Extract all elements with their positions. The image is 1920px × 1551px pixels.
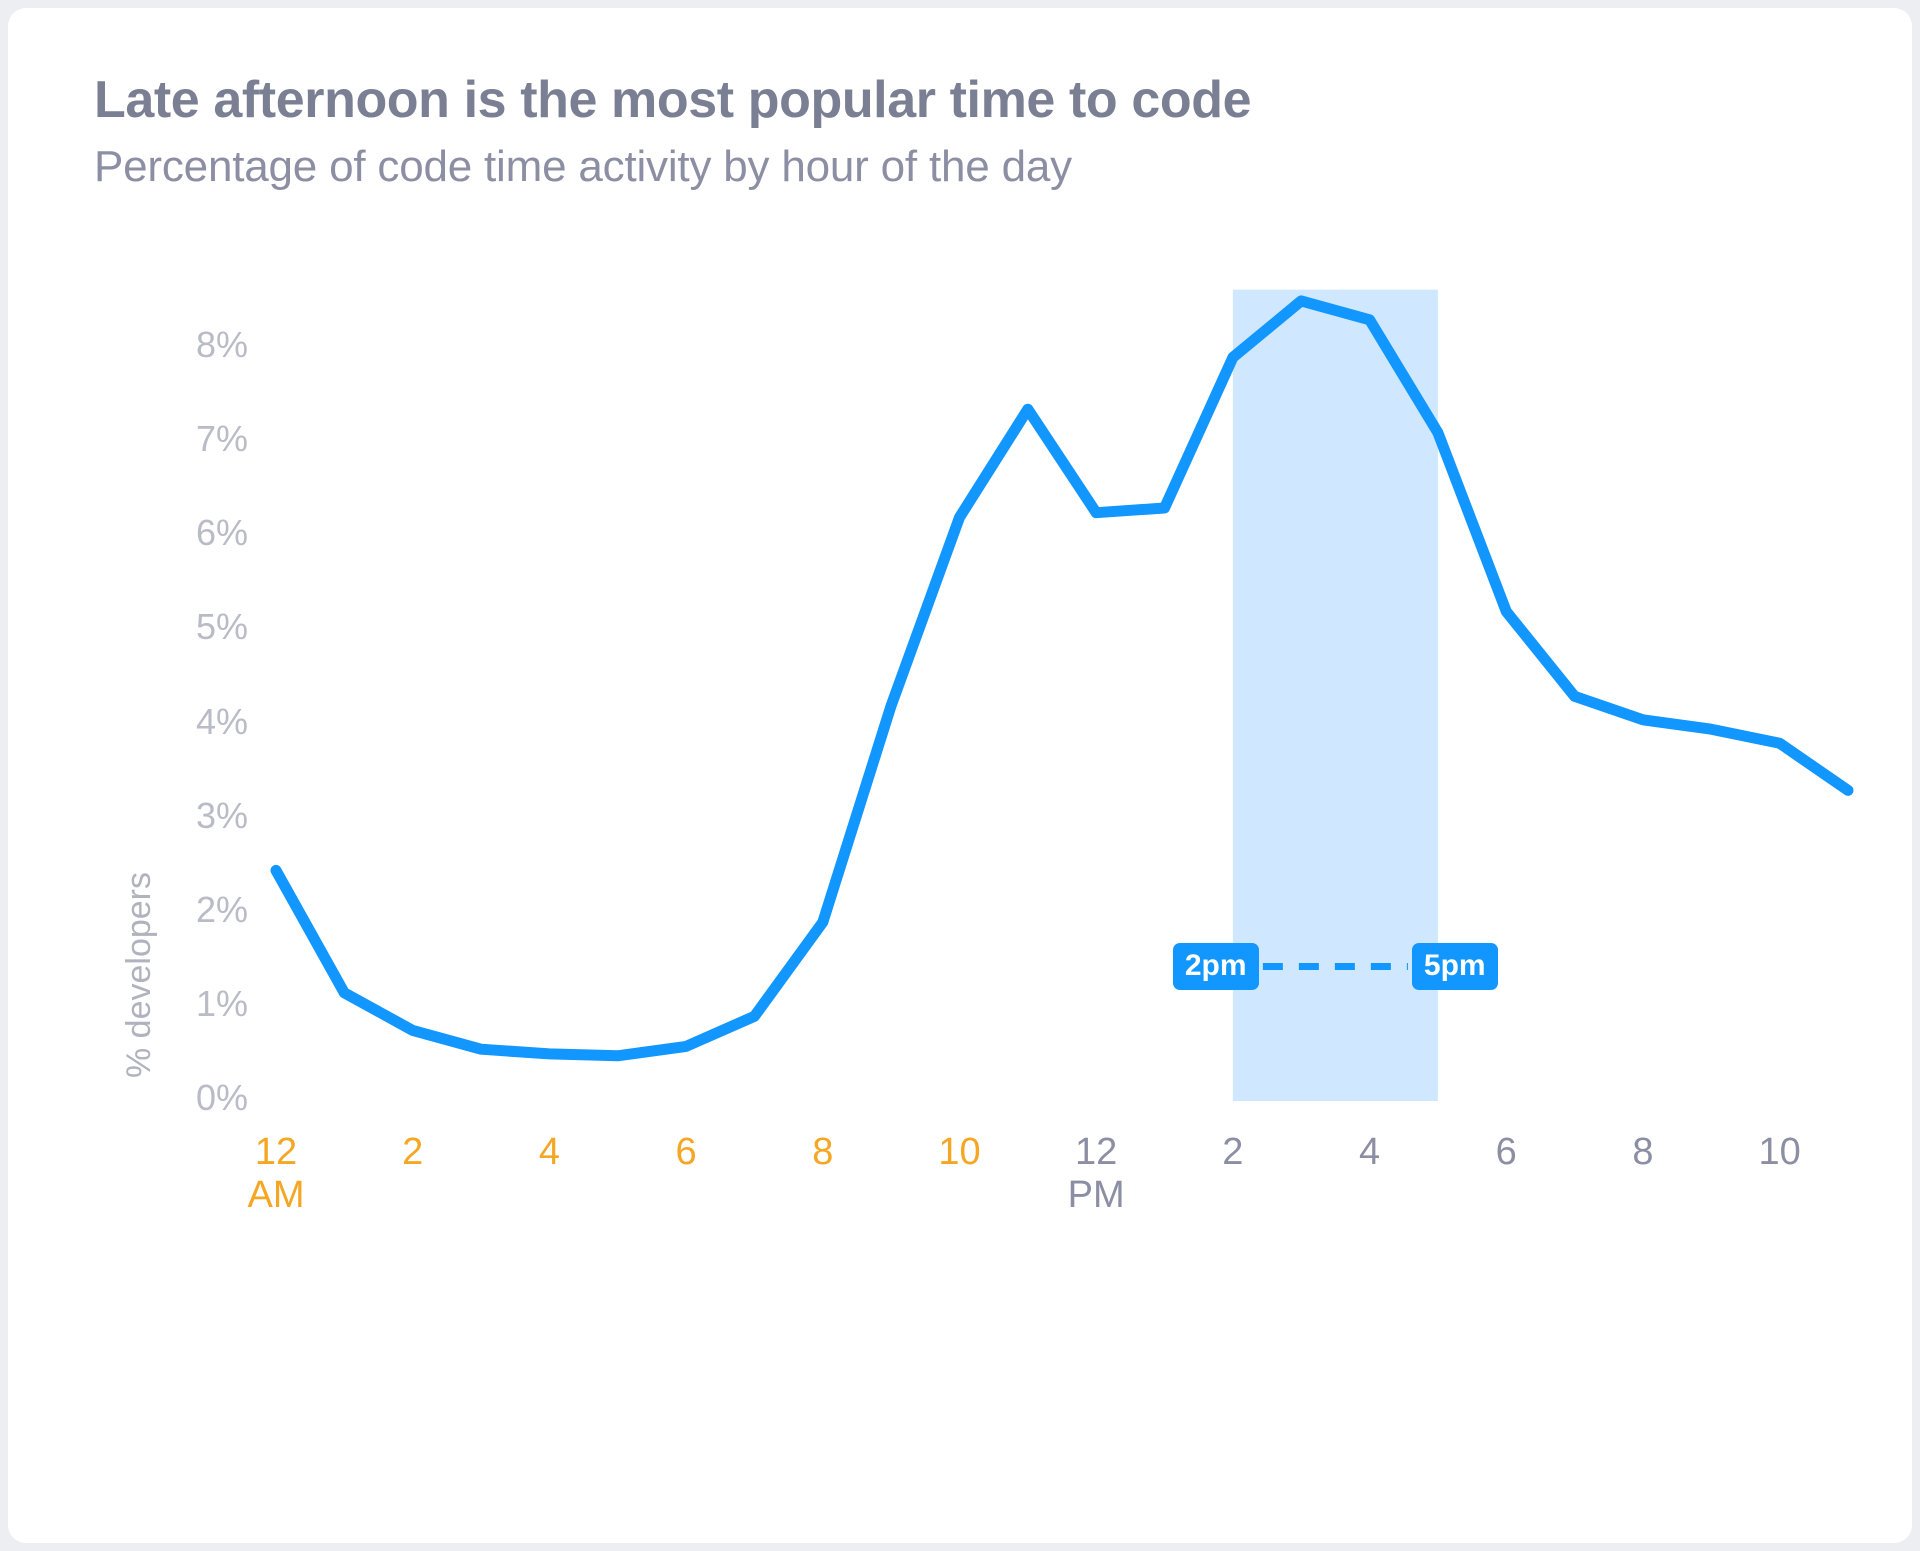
- x-tick-hour: 8: [1632, 1131, 1653, 1173]
- x-tick-hour: 10: [1759, 1131, 1801, 1173]
- y-axis-tick-label: 6%: [88, 512, 248, 554]
- line-chart-canvas: [8, 8, 1912, 1543]
- x-tick-period: AM: [248, 1174, 305, 1216]
- x-tick-hour: 12: [1075, 1131, 1117, 1173]
- highlight-band: [1233, 290, 1438, 1101]
- x-tick-hour: 4: [1359, 1131, 1380, 1173]
- x-tick-hour: 4: [539, 1131, 560, 1173]
- y-axis-tick-label: 2%: [88, 889, 248, 931]
- y-axis-tick-label: 5%: [88, 606, 248, 648]
- y-axis-tick-label: 1%: [88, 983, 248, 1025]
- annotation-badge-end[interactable]: 5pm: [1412, 943, 1498, 990]
- chart-card: Late afternoon is the most popular time …: [8, 8, 1912, 1543]
- annotation-badge-start[interactable]: 2pm: [1173, 943, 1259, 990]
- activity-line: [276, 301, 1848, 1056]
- y-axis-tick-label: 4%: [88, 701, 248, 743]
- x-tick-hour: 10: [938, 1131, 980, 1173]
- x-tick-hour: 6: [1496, 1131, 1517, 1173]
- x-tick-hour: 12: [255, 1131, 297, 1173]
- x-tick-period: PM: [1068, 1174, 1125, 1216]
- x-tick-hour: 2: [402, 1131, 423, 1173]
- x-axis-tick-label: 10: [1700, 1131, 1860, 1174]
- y-axis-tick-label: 8%: [88, 324, 248, 366]
- x-tick-hour: 2: [1222, 1131, 1243, 1173]
- x-tick-hour: 6: [676, 1131, 697, 1173]
- y-axis-tick-label: 0%: [88, 1077, 248, 1119]
- y-axis-tick-label: 7%: [88, 418, 248, 460]
- y-axis-tick-label: 3%: [88, 795, 248, 837]
- x-tick-hour: 8: [812, 1131, 833, 1173]
